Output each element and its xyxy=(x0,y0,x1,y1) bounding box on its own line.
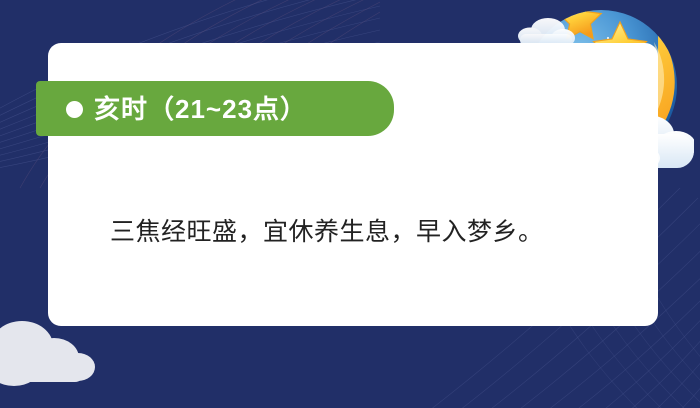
body-text: 三焦经旺盛，宜休养生息，早入梦乡。 xyxy=(110,216,630,250)
bullet-dot-icon xyxy=(66,101,83,118)
dotted-rail xyxy=(70,168,82,186)
cloud-icon xyxy=(0,318,97,390)
page-title: 亥时（21~23点） xyxy=(94,96,307,122)
time-period-title-pill: 亥时（21~23点） xyxy=(36,81,394,136)
slide-canvas: 亥时（21~23点） 三焦经旺盛，宜休养生息，早入梦乡。 xyxy=(0,0,700,408)
